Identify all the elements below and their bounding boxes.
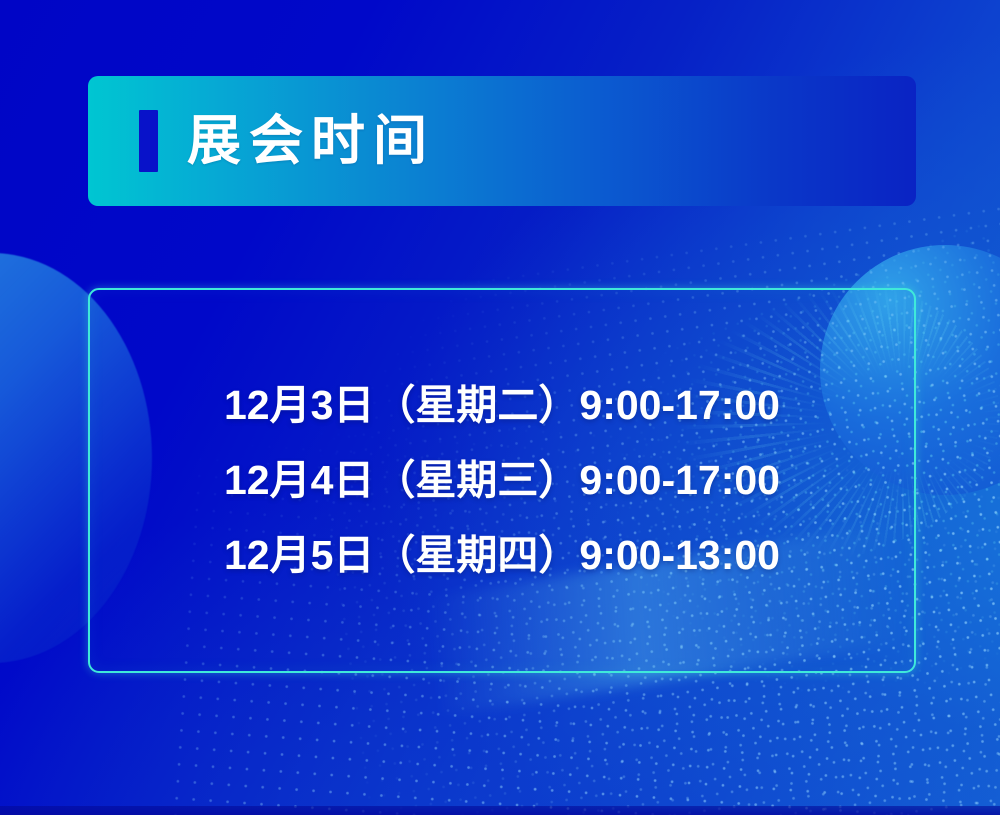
section-header-banner: 展会时间 [88, 76, 916, 206]
schedule-list: 12月3日（星期二）9:00-17:00 12月4日（星期三）9:00-17:0… [224, 385, 780, 576]
list-item: 12月5日（星期四）9:00-13:00 [224, 535, 780, 576]
page-title: 展会时间 [187, 114, 435, 168]
schedule-card: 12月3日（星期二）9:00-17:00 12月4日（星期三）9:00-17:0… [88, 288, 916, 673]
poster-stage: 展会时间 12月3日（星期二）9:00-17:00 12月4日（星期三）9:00… [0, 0, 1000, 815]
list-item: 12月3日（星期二）9:00-17:00 [224, 385, 780, 426]
list-item: 12月4日（星期三）9:00-17:00 [224, 460, 780, 501]
bottom-edge-band [0, 806, 1000, 815]
accent-bar-icon [139, 110, 158, 172]
